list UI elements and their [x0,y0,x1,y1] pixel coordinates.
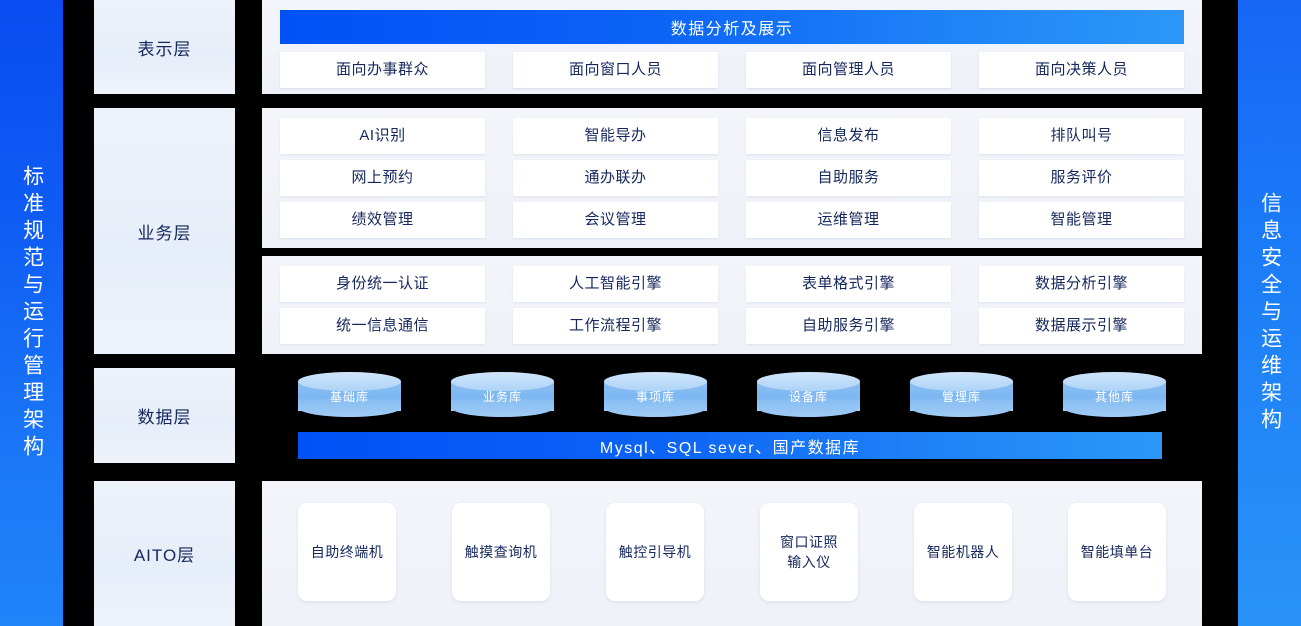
business-layer-panel: AI识别 网上预约 绩效管理 智能导办 通办联办 会议管理 信息发布 自助服务 … [262,108,1202,248]
business-card[interactable]: 排队叫号 [979,118,1184,154]
presentation-card[interactable]: 面向办事群众 [280,52,485,88]
right-vertical-banner: 信息安全与运维架构 [1238,0,1301,626]
cylinder-label: 管理库 [910,388,1013,405]
business-card[interactable]: 智能管理 [979,202,1184,238]
left-vertical-banner: 标准规范与运行管理架构 [0,0,63,626]
layer-label-presentation: 表示层 [94,0,235,94]
engine-card[interactable]: 表单格式引擎 [746,266,951,302]
engine-column: 身份统一认证 统一信息通信 [280,266,485,344]
business-card[interactable]: 通办联办 [513,160,718,196]
database-cylinder[interactable]: 管理库 [910,372,1013,418]
business-card[interactable]: 信息发布 [746,118,951,154]
business-card-grid: AI识别 网上预约 绩效管理 智能导办 通办联办 会议管理 信息发布 自助服务 … [280,118,1184,238]
database-cylinder[interactable]: 设备库 [757,372,860,418]
engine-card-grid: 身份统一认证 统一信息通信 人工智能引擎 工作流程引擎 表单格式引擎 自助服务引… [280,266,1184,344]
cylinder-label: 事项库 [604,388,707,405]
cylinder-label: 设备库 [757,388,860,405]
layer-label-aito: AITO层 [94,481,235,626]
business-card[interactable]: 绩效管理 [280,202,485,238]
layer-label-business: 业务层 [94,108,235,354]
aito-device-row: 自助终端机 触摸查询机 触控引导机 窗口证照输入仪 智能机器人 智能填单台 [298,503,1166,601]
presentation-card[interactable]: 面向窗口人员 [513,52,718,88]
architecture-diagram: 标准规范与运行管理架构 信息安全与运维架构 表示层 业务层 数据层 AITO层 … [0,0,1301,626]
presentation-card-row: 面向办事群众 面向窗口人员 面向管理人员 面向决策人员 [280,52,1184,88]
engine-card[interactable]: 数据分析引擎 [979,266,1184,302]
engine-card[interactable]: 身份统一认证 [280,266,485,302]
business-column: 信息发布 自助服务 运维管理 [746,118,951,238]
cylinder-label: 其他库 [1063,388,1166,405]
aito-layer-panel: 自助终端机 触摸查询机 触控引导机 窗口证照输入仪 智能机器人 智能填单台 [262,481,1202,626]
aito-device-card[interactable]: 智能填单台 [1068,503,1166,601]
aito-device-card[interactable]: 窗口证照输入仪 [760,503,858,601]
business-column: 智能导办 通办联办 会议管理 [513,118,718,238]
database-cylinder-row: 基础库 业务库 事项库 设备库 [298,372,1166,418]
aito-device-card[interactable]: 触控引导机 [606,503,704,601]
business-card[interactable]: 会议管理 [513,202,718,238]
database-cylinder[interactable]: 其他库 [1063,372,1166,418]
business-card[interactable]: 自助服务 [746,160,951,196]
database-cylinder[interactable]: 事项库 [604,372,707,418]
business-card[interactable]: 服务评价 [979,160,1184,196]
engine-card[interactable]: 工作流程引擎 [513,308,718,344]
aito-device-card[interactable]: 智能机器人 [914,503,1012,601]
cylinder-label: 基础库 [298,388,401,405]
engine-column: 人工智能引擎 工作流程引擎 [513,266,718,344]
aito-device-card[interactable]: 触摸查询机 [452,503,550,601]
engine-column: 表单格式引擎 自助服务引擎 [746,266,951,344]
layer-label-data: 数据层 [94,368,235,463]
business-card[interactable]: 网上预约 [280,160,485,196]
cylinder-label: 业务库 [451,388,554,405]
business-column: AI识别 网上预约 绩效管理 [280,118,485,238]
engine-card[interactable]: 统一信息通信 [280,308,485,344]
database-cylinder[interactable]: 业务库 [451,372,554,418]
engine-layer-panel: 身份统一认证 统一信息通信 人工智能引擎 工作流程引擎 表单格式引擎 自助服务引… [262,256,1202,354]
presentation-card[interactable]: 面向管理人员 [746,52,951,88]
engine-card[interactable]: 数据展示引擎 [979,308,1184,344]
business-card[interactable]: 智能导办 [513,118,718,154]
database-cylinder[interactable]: 基础库 [298,372,401,418]
presentation-layer-panel: 数据分析及展示 面向办事群众 面向窗口人员 面向管理人员 面向决策人员 [262,0,1202,94]
engine-column: 数据分析引擎 数据展示引擎 [979,266,1184,344]
engine-card[interactable]: 人工智能引擎 [513,266,718,302]
presentation-card[interactable]: 面向决策人员 [979,52,1184,88]
data-layer-panel: 基础库 业务库 事项库 设备库 [262,368,1202,463]
presentation-header-bar: 数据分析及展示 [280,10,1184,44]
aito-device-card[interactable]: 自助终端机 [298,503,396,601]
business-card[interactable]: 运维管理 [746,202,951,238]
business-column: 排队叫号 服务评价 智能管理 [979,118,1184,238]
database-engine-bar: Mysql、SQL sever、国产数据库 [298,432,1162,459]
engine-card[interactable]: 自助服务引擎 [746,308,951,344]
business-card[interactable]: AI识别 [280,118,485,154]
